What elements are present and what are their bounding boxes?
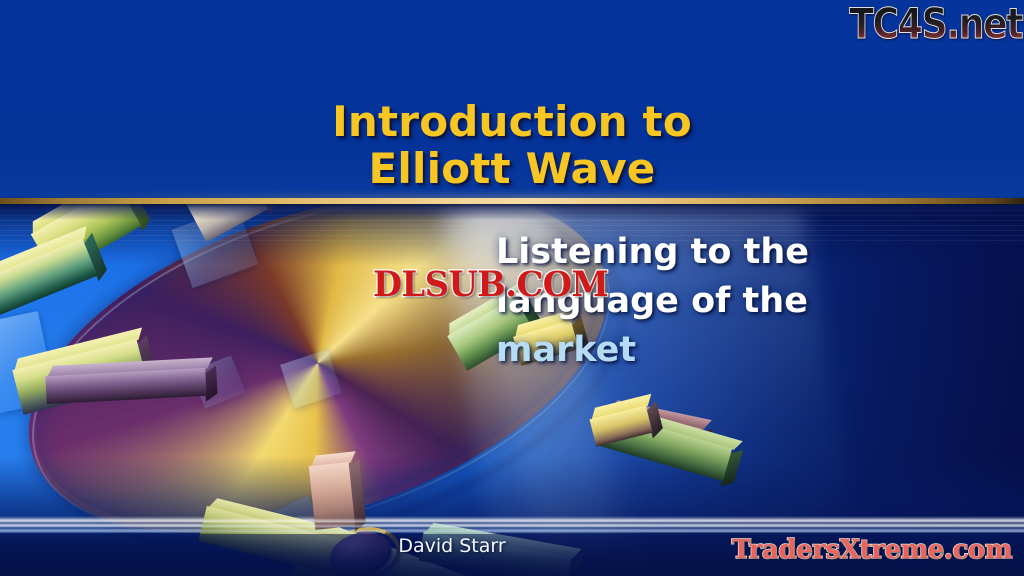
watermark-tradersxtreme: TradersXtreme.com bbox=[732, 536, 1012, 564]
presentation-slide: Introduction to Elliott Wave Listening t… bbox=[0, 0, 1024, 576]
footer-rule-lines bbox=[0, 518, 1024, 536]
gold-divider-line bbox=[0, 198, 1024, 204]
title-line-1: Introduction to bbox=[0, 98, 1024, 145]
divider-undershade bbox=[0, 204, 1024, 220]
watermark-tc4s: TC4S.net bbox=[849, 2, 1022, 46]
subtitle-highlight-word: market bbox=[496, 326, 876, 375]
watermark-dlsub: DLSUB.COM bbox=[373, 266, 608, 303]
title-line-2: Elliott Wave bbox=[0, 145, 1024, 192]
page-title: Introduction to Elliott Wave bbox=[0, 98, 1024, 192]
